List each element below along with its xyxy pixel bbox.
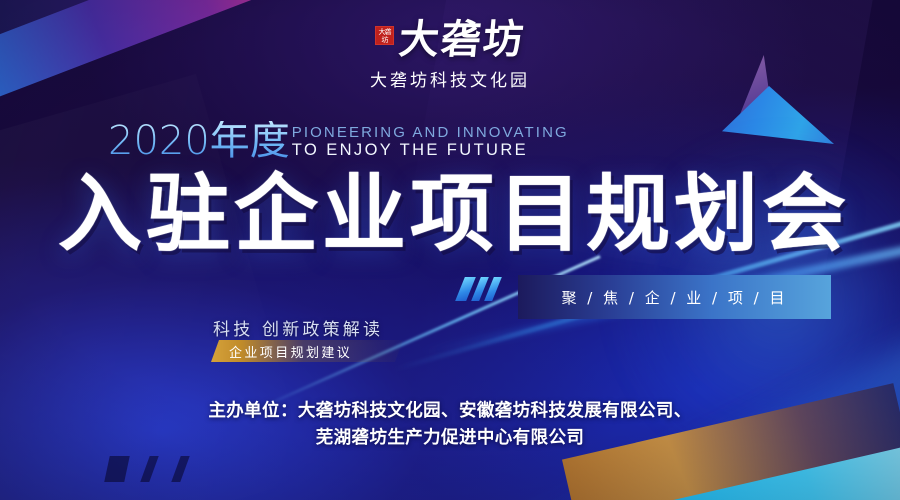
page-title: 入驻企业项目规划会 (58, 168, 850, 260)
organizer-line-2: 芜湖砻坊生产力促进中心有限公司 (0, 425, 900, 452)
brand-logo-block: 大砻坊 大砻坊 大砻坊科技文化园 (0, 18, 900, 91)
year-label: 2020年度 (108, 121, 290, 161)
brand-subtitle: 大砻坊科技文化园 (0, 66, 900, 91)
event-poster-banner: 大砻坊 大砻坊 大砻坊科技文化园 2020年度 PIONEERING AND I… (0, 0, 900, 500)
red-seal-stamp-icon: 大砻坊 (375, 26, 394, 45)
organizer-block: 主办单位：大砻坊科技文化园、安徽砻坊科技发展有限公司、 芜湖砻坊生产力促进中心有… (0, 398, 900, 452)
topic-line: 科技 创新政策解读 (213, 315, 383, 340)
brand-logo-row: 大砻坊 大砻坊 (375, 18, 525, 62)
english-slogan-line2: TO ENJOY THE FUTURE (292, 141, 569, 160)
brand-wordmark: 大砻坊 (397, 18, 527, 62)
focus-banner-text: 聚 / 焦 / 企 / 业 / 项 / 目 (562, 287, 788, 308)
english-slogan-line1: PIONEERING AND INNOVATING (292, 124, 569, 141)
gold-tag-label: 企业项目规划建议 (211, 342, 352, 361)
accent-slashes-icon (460, 277, 497, 301)
year-and-slogan: 2020年度 PIONEERING AND INNOVATING TO ENJO… (108, 121, 569, 161)
gold-tag-badge: 企业项目规划建议 (211, 340, 352, 362)
english-slogan: PIONEERING AND INNOVATING TO ENJOY THE F… (292, 124, 569, 160)
focus-banner-bar: 聚 / 焦 / 企 / 业 / 项 / 目 (518, 275, 831, 319)
organizer-line-1: 主办单位：大砻坊科技文化园、安徽砻坊科技发展有限公司、 (0, 398, 900, 425)
poster-content: 大砻坊 大砻坊 大砻坊科技文化园 2020年度 PIONEERING AND I… (0, 0, 900, 500)
